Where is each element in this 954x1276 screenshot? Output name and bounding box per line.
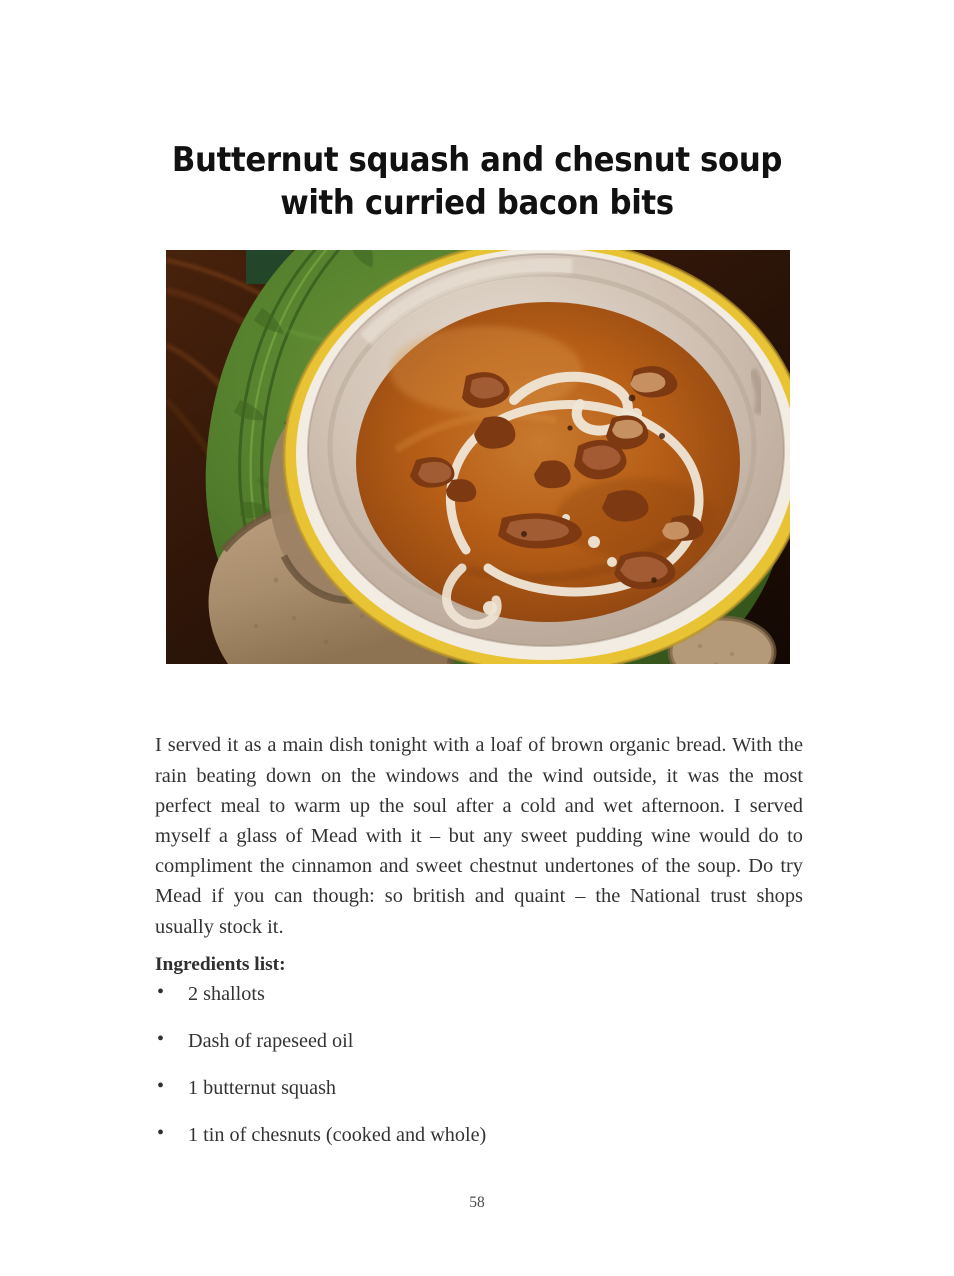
page-title-line-2: with curried bacon bits [149, 181, 806, 224]
ingredient-label: 1 tin of chesnuts (cooked and whole) [188, 1124, 486, 1146]
ingredient-label: 2 shallots [188, 983, 265, 1005]
page-title: Butternut squash and chesnut soup with c… [149, 138, 806, 224]
body-paragraph: I served it as a main dish tonight with … [155, 730, 803, 941]
page-title-line-1: Butternut squash and chesnut soup [149, 138, 806, 181]
ingredients-heading: Ingredients list: [155, 954, 286, 976]
page-number: 58 [0, 1194, 954, 1212]
list-item: • 1 tin of chesnuts (cooked and whole) [155, 1121, 803, 1168]
list-item: • Dash of rapeseed oil [155, 1027, 803, 1074]
bullet-icon: • [157, 1119, 164, 1147]
ingredients-list: • 2 shallots • Dash of rapeseed oil • 1 … [155, 980, 803, 1168]
bullet-icon: • [157, 978, 164, 1006]
ingredient-label: 1 butternut squash [188, 1077, 336, 1099]
ingredient-label: Dash of rapeseed oil [188, 1030, 353, 1052]
recipe-photo [166, 250, 790, 664]
list-item: • 2 shallots [155, 980, 803, 1027]
bullet-icon: • [157, 1072, 164, 1100]
recipe-photo-illustration [166, 250, 790, 664]
soup-bowl [284, 250, 790, 664]
list-item: • 1 butternut squash [155, 1074, 803, 1121]
bullet-icon: • [157, 1025, 164, 1053]
document-page: Butternut squash and chesnut soup with c… [0, 0, 954, 1276]
